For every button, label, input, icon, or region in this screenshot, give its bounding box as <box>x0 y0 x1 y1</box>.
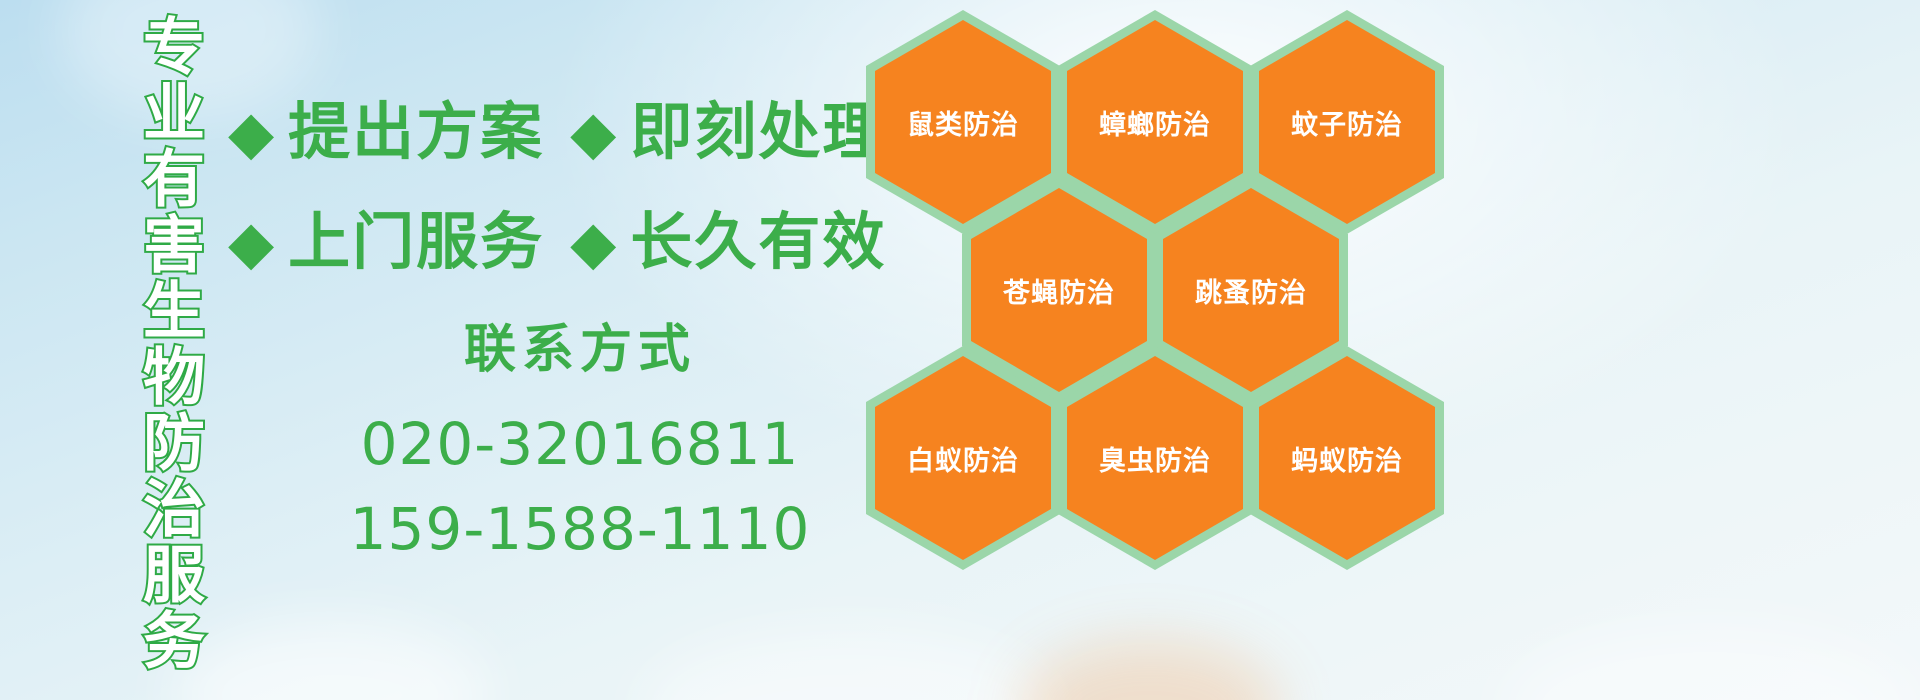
hex-inner: 白蚁防治 <box>875 356 1051 560</box>
service-label: 跳蚤防治 <box>1195 271 1307 310</box>
diamond-bullet-icon: ◆ <box>570 103 616 163</box>
diamond-bullet-icon: ◆ <box>228 103 274 163</box>
phone-number-landline[interactable]: 020-32016811 <box>300 407 860 482</box>
promo-banner: 专业有害生物防治服务 ◆ 提出方案 ◆ 即刻处理 ◆ 上门服务 ◆ 长久有效 联… <box>0 0 1920 700</box>
service-label: 鼠类防治 <box>907 103 1019 142</box>
feature-label: 上门服务 <box>288 212 544 274</box>
hex-inner: 鼠类防治 <box>875 20 1051 224</box>
service-label: 臭虫防治 <box>1099 439 1211 478</box>
contact-title: 联系方式 <box>300 318 860 383</box>
feature-label: 即刻处理 <box>630 102 886 164</box>
hex-inner: 臭虫防治 <box>1067 356 1243 560</box>
hex-inner: 苍蝇防治 <box>971 188 1147 392</box>
feature-item-propose-plan: ◆ 提出方案 <box>228 102 544 164</box>
feature-item-door-to-door-service: ◆ 上门服务 <box>228 212 544 274</box>
hex-inner: 跳蚤防治 <box>1163 188 1339 392</box>
background-blur-blob <box>1500 625 1920 700</box>
service-label: 蟑螂防治 <box>1099 103 1211 142</box>
contact-block: 联系方式 020-32016811 159-1588-1110 <box>300 318 860 568</box>
feature-row: ◆ 提出方案 ◆ 即刻处理 <box>228 78 868 188</box>
service-label: 白蚁防治 <box>907 439 1019 478</box>
background-blur-blob <box>170 620 490 700</box>
diamond-bullet-icon: ◆ <box>570 213 616 273</box>
feature-label: 提出方案 <box>288 102 544 164</box>
service-label: 蚂蚁防治 <box>1291 439 1403 478</box>
service-honeycomb: 鼠类防治 蟑螂防治 蚊子防治 苍蝇防治 跳蚤防治 白蚁防治 <box>862 6 1462 566</box>
phone-number-mobile[interactable]: 159-1588-1110 <box>300 492 860 567</box>
feature-list: ◆ 提出方案 ◆ 即刻处理 ◆ 上门服务 ◆ 长久有效 <box>228 78 868 298</box>
vertical-headline: 专业有害生物防治服务 <box>104 14 200 674</box>
hex-inner: 蚂蚁防治 <box>1259 356 1435 560</box>
feature-item-immediate-handling: ◆ 即刻处理 <box>570 102 886 164</box>
service-label: 苍蝇防治 <box>1003 271 1115 310</box>
feature-label: 长久有效 <box>630 212 886 274</box>
service-label: 蚊子防治 <box>1291 103 1403 142</box>
hex-inner: 蚊子防治 <box>1259 20 1435 224</box>
feature-row: ◆ 上门服务 ◆ 长久有效 <box>228 188 868 298</box>
hex-inner: 蟑螂防治 <box>1067 20 1243 224</box>
diamond-bullet-icon: ◆ <box>228 213 274 273</box>
background-blur-blob <box>640 630 1060 700</box>
feature-item-long-lasting-effect: ◆ 长久有效 <box>570 212 886 274</box>
background-blur-blob <box>1020 640 1280 700</box>
